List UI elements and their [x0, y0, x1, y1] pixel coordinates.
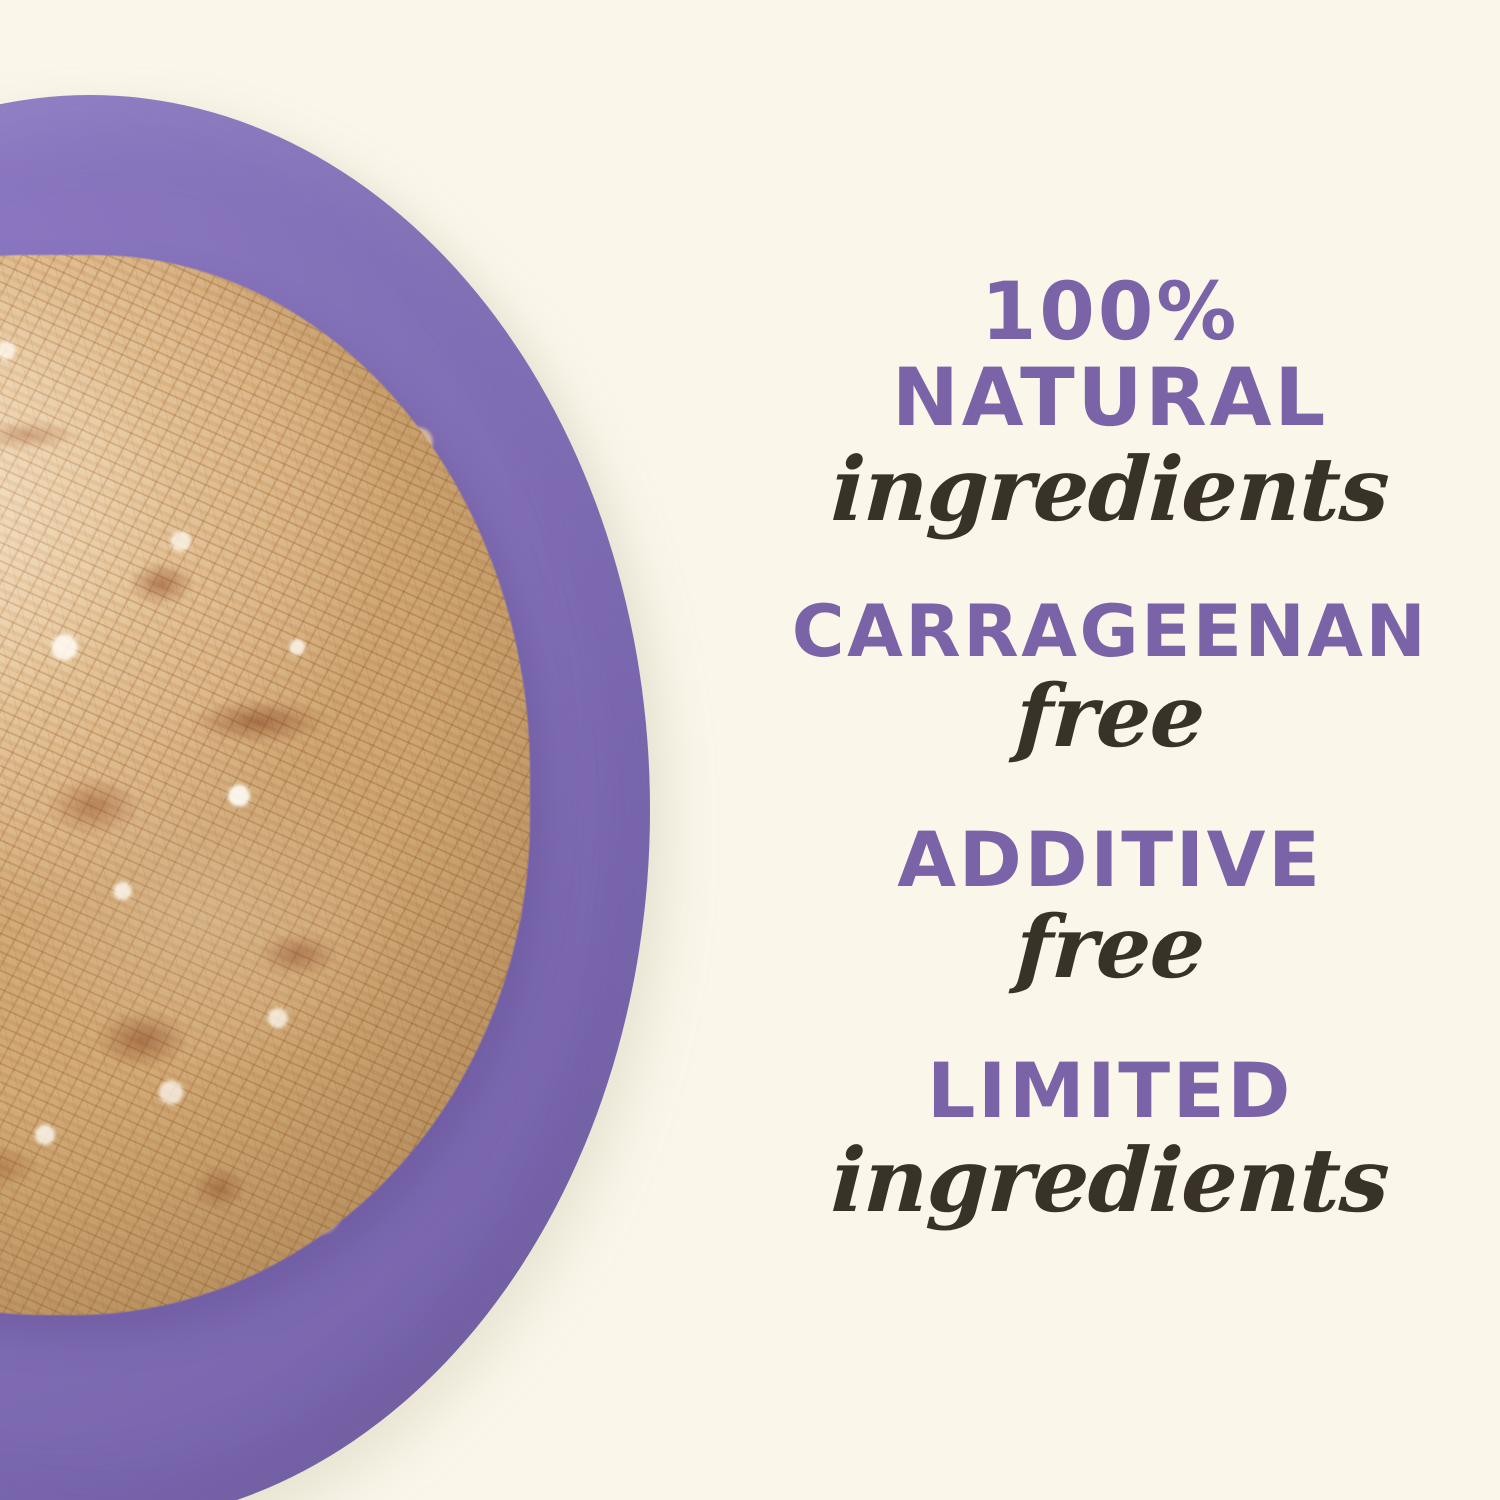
claim-script: ingredients — [758, 1133, 1463, 1228]
claim-limited-ingredients: LIMITED ingredients — [760, 1053, 1460, 1228]
claim-headline: CARRAGEENAN — [760, 595, 1460, 667]
food-edge-shading — [0, 255, 530, 1315]
claims-column: 100% NATURAL ingredients CARRAGEENAN fre… — [760, 0, 1460, 1500]
claim-headline: ADDITIVE — [760, 822, 1460, 898]
claim-kicker: 100% — [760, 272, 1460, 352]
claim-script: free — [758, 671, 1463, 764]
claim-script: free — [758, 902, 1463, 995]
claim-headline: NATURAL — [760, 358, 1460, 438]
product-benefits-panel: 100% NATURAL ingredients CARRAGEENAN fre… — [0, 0, 1500, 1500]
claim-script: ingredients — [758, 442, 1463, 537]
claim-carrageenan-free: CARRAGEENAN free — [760, 595, 1460, 764]
claim-natural-ingredients: 100% NATURAL ingredients — [760, 272, 1460, 537]
claim-headline: LIMITED — [760, 1053, 1460, 1129]
claim-additive-free: ADDITIVE free — [760, 822, 1460, 995]
food-mound — [0, 255, 530, 1315]
